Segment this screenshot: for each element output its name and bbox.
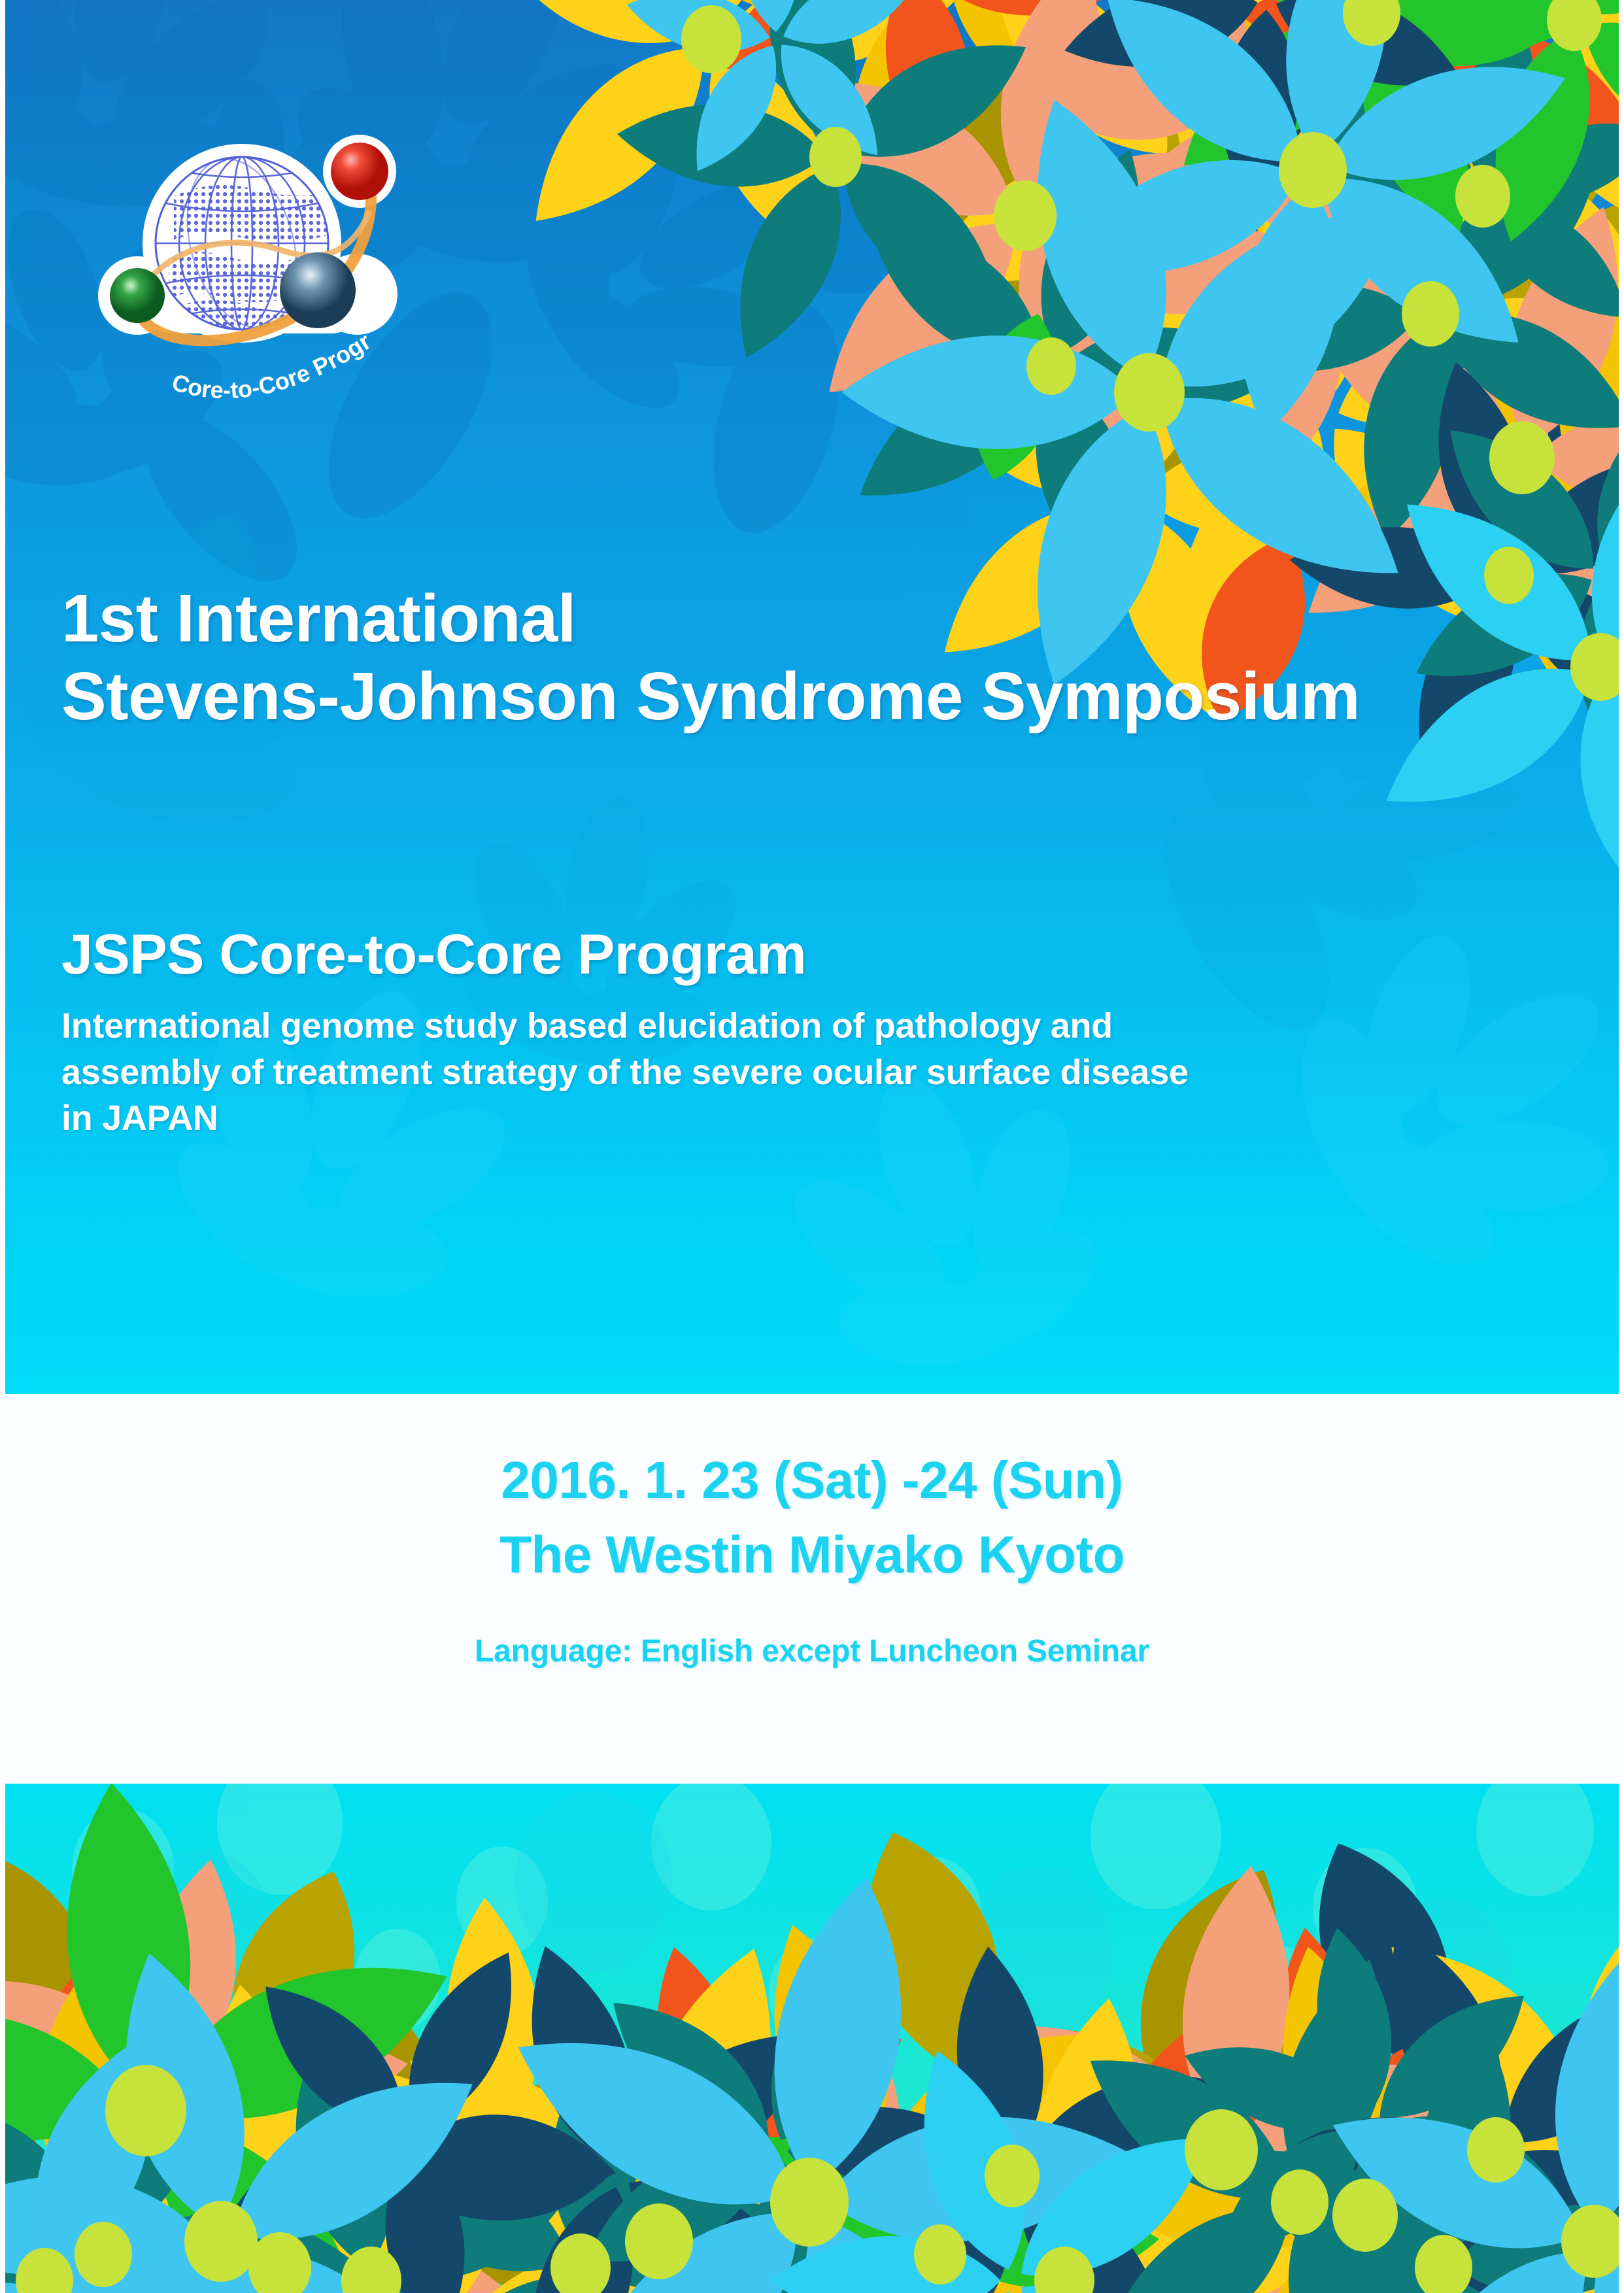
logo-node-green: [110, 268, 165, 323]
event-venue: The Westin Miyako Kyoto: [499, 1525, 1125, 1585]
program-subtitle-line-1: International genome study based elucida…: [61, 1003, 1591, 1049]
bottom-ghost-shapes: [5, 1784, 1619, 2293]
title-line-1: 1st International: [61, 579, 1585, 657]
event-date: 2016. 1. 23 (Sat) -24 (Sun): [501, 1450, 1123, 1510]
program-subtitle-line-2: assembly of treatment strategy of the se…: [61, 1049, 1591, 1095]
event-details-band: 2016. 1. 23 (Sat) -24 (Sun) The Westin M…: [0, 1394, 1624, 1784]
page-title: 1st International Stevens-Johnson Syndro…: [61, 579, 1585, 736]
floral-band-bottom: [5, 1784, 1619, 2293]
logo-node-red: [331, 143, 388, 200]
title-line-2: Stevens-Johnson Syndrome Symposium: [61, 657, 1585, 735]
event-language-note: Language: English except Luncheon Semina…: [475, 1633, 1149, 1669]
program-block: JSPS Core-to-Core Program International …: [61, 923, 1591, 1141]
jsps-core-to-core-program-logo: Core-to-Core Program: [64, 98, 443, 438]
logo-node-blue: [280, 252, 356, 328]
bottom-cyan-panel: [5, 1784, 1619, 2293]
program-heading: JSPS Core-to-Core Program: [61, 923, 1591, 986]
program-subtitle-line-3: in JAPAN: [61, 1095, 1591, 1141]
top-blue-panel: Core-to-Core Program 1st International S…: [5, 0, 1619, 1394]
conference-poster: Core-to-Core Program 1st International S…: [0, 0, 1624, 2293]
